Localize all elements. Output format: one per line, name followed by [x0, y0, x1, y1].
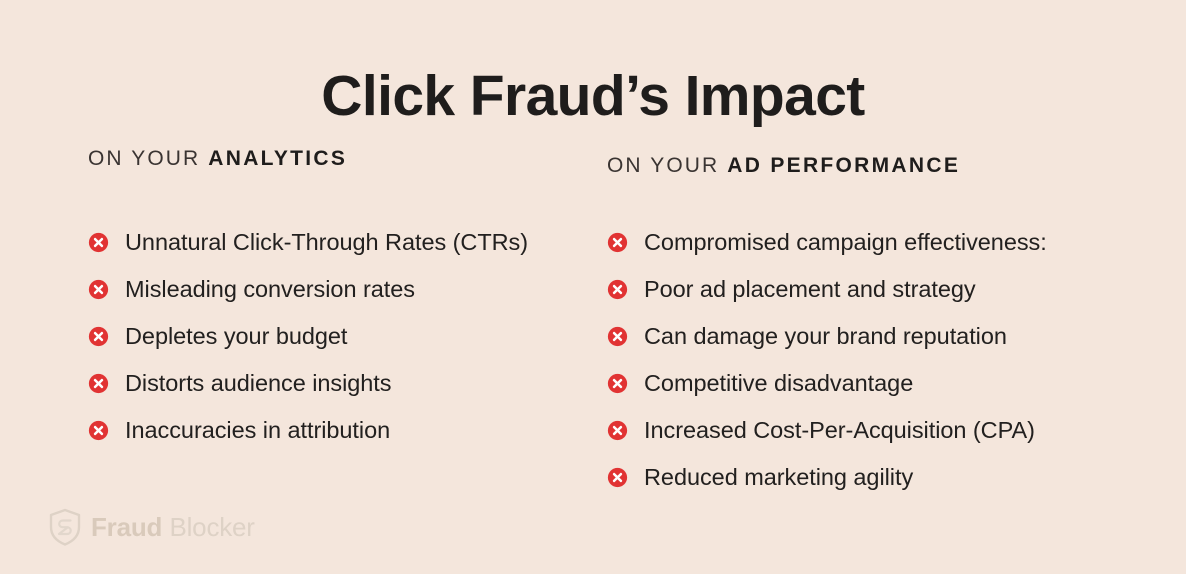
list-item-label: Misleading conversion rates: [125, 278, 415, 302]
x-circle-icon: [607, 420, 628, 441]
list-item: Increased Cost-Per-Acquisition (CPA): [607, 407, 1167, 454]
slide-canvas: Click Fraud’s Impact ON YOUR ANALYTICS U…: [0, 0, 1186, 574]
list-item-label: Competitive disadvantage: [644, 372, 913, 396]
column-ad-performance-heading-lead: ON YOUR: [607, 154, 727, 177]
shield-icon: [48, 508, 82, 546]
list-item: Poor ad placement and strategy: [607, 266, 1167, 313]
list-item: Compromised campaign effectiveness:: [607, 219, 1167, 266]
list-item: Distorts audience insights: [88, 360, 603, 407]
column-ad-performance-list: Compromised campaign effectiveness: Poor…: [607, 219, 1167, 501]
x-circle-icon: [88, 279, 109, 300]
list-item: Can damage your brand reputation: [607, 313, 1167, 360]
logo-word-primary: Fraud: [91, 512, 162, 542]
brand-logo: Fraud Blocker: [48, 506, 255, 548]
x-circle-icon: [607, 373, 628, 394]
column-analytics-heading-lead: ON YOUR: [88, 147, 208, 170]
columns-container: ON YOUR ANALYTICS Unnatural Click-Throug…: [0, 0, 1186, 574]
x-circle-icon: [88, 373, 109, 394]
list-item-label: Can damage your brand reputation: [644, 325, 1007, 349]
column-analytics-heading: ON YOUR ANALYTICS: [88, 148, 347, 169]
x-circle-icon: [607, 467, 628, 488]
x-circle-icon: [88, 420, 109, 441]
list-item-label: Distorts audience insights: [125, 372, 391, 396]
list-item: Unnatural Click-Through Rates (CTRs): [88, 219, 603, 266]
list-item: Reduced marketing agility: [607, 454, 1167, 501]
x-circle-icon: [607, 279, 628, 300]
list-item-label: Unnatural Click-Through Rates (CTRs): [125, 231, 528, 255]
list-item: Inaccuracies in attribution: [88, 407, 603, 454]
logo-wordmark: Fraud Blocker: [91, 514, 255, 540]
list-item-label: Poor ad placement and strategy: [644, 278, 976, 302]
list-item: Depletes your budget: [88, 313, 603, 360]
x-circle-icon: [607, 232, 628, 253]
column-ad-performance-heading-term: AD PERFORMANCE: [727, 154, 960, 177]
column-analytics-list: Unnatural Click-Through Rates (CTRs) Mis…: [88, 219, 603, 454]
list-item-label: Compromised campaign effectiveness:: [644, 231, 1047, 255]
list-item-label: Reduced marketing agility: [644, 466, 913, 490]
list-item-label: Depletes your budget: [125, 325, 347, 349]
x-circle-icon: [607, 326, 628, 347]
list-item: Competitive disadvantage: [607, 360, 1167, 407]
column-analytics-heading-term: ANALYTICS: [208, 147, 347, 170]
list-item-label: Increased Cost-Per-Acquisition (CPA): [644, 419, 1035, 443]
column-ad-performance-heading: ON YOUR AD PERFORMANCE: [607, 155, 960, 176]
logo-word-secondary: Blocker: [169, 512, 254, 542]
list-item-label: Inaccuracies in attribution: [125, 419, 390, 443]
x-circle-icon: [88, 232, 109, 253]
x-circle-icon: [88, 326, 109, 347]
list-item: Misleading conversion rates: [88, 266, 603, 313]
